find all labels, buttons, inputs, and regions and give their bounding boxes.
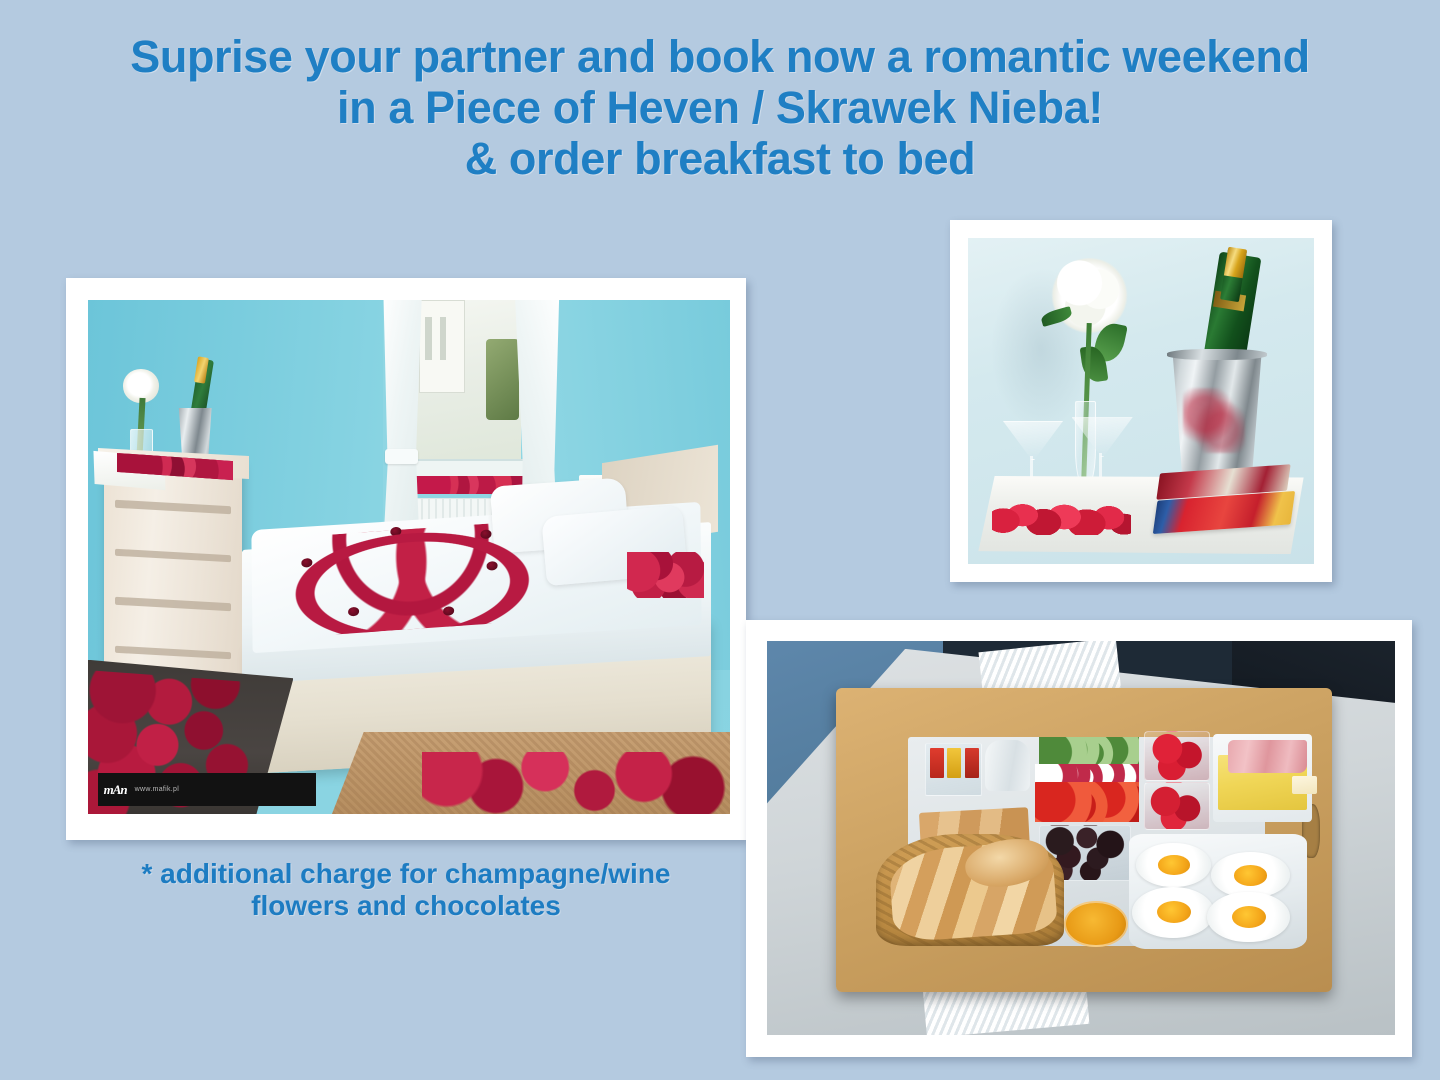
jam-dish [1064,901,1128,947]
rose-petal-cluster [627,552,704,598]
rose-bud [390,526,401,535]
bedroom-window [412,300,521,469]
title-line-1: Suprise your partner and book now a roma… [0,32,1440,83]
cucumber-slices [1039,737,1138,767]
watermark-signature: mAn [104,782,127,798]
drawer-handle [115,500,231,514]
ice-bucket-rim [1167,349,1267,360]
bedroom-scene: mAn www.mafik.pl [88,300,730,814]
strawberries-glass [1144,731,1210,782]
curtain-tieback [385,449,418,464]
additional-charge-caption: * additional charge for champagne/wine f… [66,858,746,923]
drawer-handle [115,597,231,611]
rose-bud [348,607,359,616]
rose-bud [487,561,498,570]
condiment-holder [925,743,982,797]
breakfast-scene [767,641,1395,1035]
glass-bowl [1003,421,1064,460]
egg-yolk [1158,855,1190,874]
rose-bud [481,529,492,538]
drawer-handle [115,548,231,562]
condiment-sachet [965,748,979,778]
milk-jug [985,740,1030,792]
rose-petals [992,499,1130,535]
caption-line-1: * additional charge for champagne/wine [66,858,746,890]
title-line-3: & order breakfast to bed [0,134,1440,185]
watermark-url: www.mafik.pl [135,786,179,793]
egg-yolk [1234,865,1267,885]
rose-petal-heart [285,520,538,638]
egg-yolk [1157,901,1191,923]
rose-bud [301,558,312,567]
chest-of-drawers [104,453,242,692]
ice-bucket-reflection [1183,388,1245,453]
caption-line-2: flowers and chocolates [66,890,746,922]
wooden-tray [836,688,1332,991]
egg-yolk [1232,906,1266,928]
romantic-bedroom-photo: mAn www.mafik.pl [66,278,746,840]
condiment-sachet [930,748,944,778]
fried-eggs-plate [1129,834,1308,949]
rose-petals-on-carpet [422,752,730,814]
glass-bowl [1072,417,1133,456]
fried-egg [1136,843,1211,887]
ham-slices [1228,740,1307,773]
window-view-building [419,300,465,393]
butter-portion [1292,776,1317,794]
slide-title: Suprise your partner and book now a roma… [0,32,1440,185]
glass-stem [1099,453,1102,480]
photo-watermark: mAn www.mafik.pl [98,773,316,806]
title-line-2: in a Piece of Heven / Skrawek Nieba! [0,83,1440,134]
rose-bud [443,606,454,615]
fried-egg [1207,892,1289,943]
fried-egg [1132,887,1214,938]
tomato-slices [1035,782,1139,821]
champagne-setup-photo [950,220,1332,582]
drawer-handle [115,645,231,659]
champagne-scene [968,238,1314,564]
strawberries-glass [1144,782,1210,830]
condiment-sachet [947,748,961,778]
window-view-foliage [486,339,519,420]
breakfast-tray-photo [746,620,1412,1057]
